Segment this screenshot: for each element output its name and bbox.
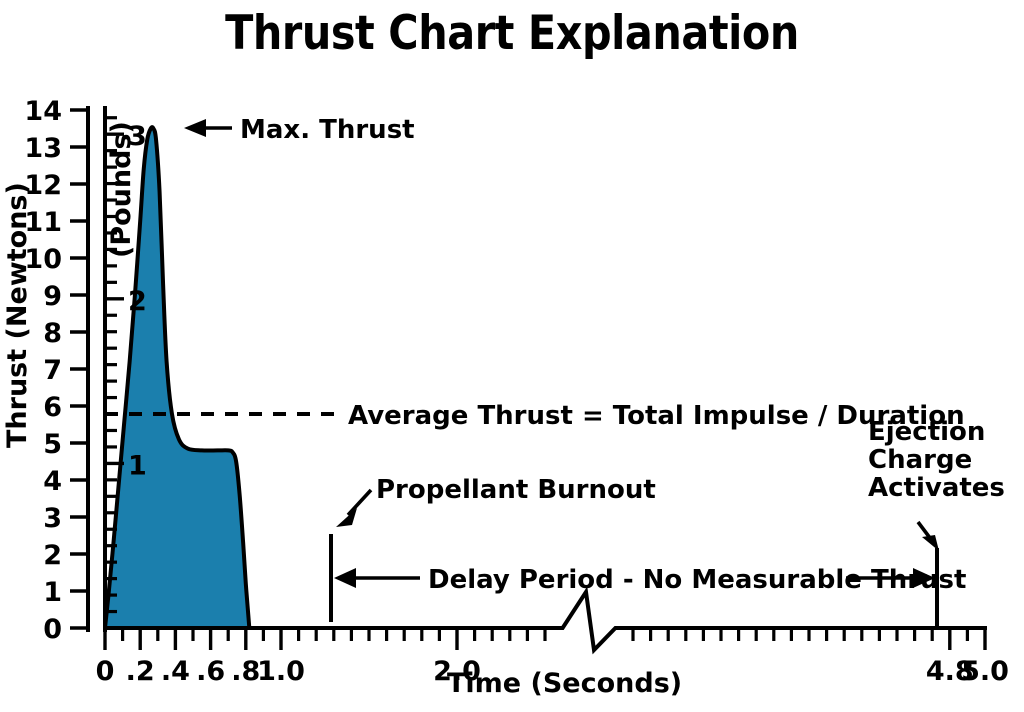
ejection-charge-annotation: Ejection Charge Activates bbox=[868, 417, 1005, 628]
y-tick-label-newtons: 14 bbox=[24, 96, 62, 127]
propellant-burnout-annotation: Propellant Burnout bbox=[331, 475, 656, 622]
y-tick-label-newtons: 2 bbox=[43, 540, 62, 571]
y-tick-label-newtons: 3 bbox=[43, 503, 62, 534]
y-tick-label-newtons: 8 bbox=[43, 318, 62, 349]
y-tick-label-newtons: 6 bbox=[43, 392, 62, 423]
max-thrust-annotation: Max. Thrust bbox=[184, 115, 415, 145]
burnout-arrow-shaft bbox=[348, 490, 371, 515]
x-tick-label: 5.0 bbox=[961, 656, 1009, 687]
x-tick-label: 0 bbox=[96, 656, 115, 687]
x-axis-title: Time (Seconds) bbox=[447, 668, 682, 699]
delay-period-label: Delay Period - No Measurable Thrust bbox=[428, 565, 966, 595]
y-tick-label-newtons: 1 bbox=[43, 577, 62, 608]
y-tick-label-newtons: 0 bbox=[43, 614, 62, 645]
x-tick-label: .4 bbox=[161, 656, 190, 687]
y-axis-newtons-ticks bbox=[70, 110, 88, 628]
y-tick-label-newtons: 5 bbox=[43, 429, 62, 460]
thrust-chart-figure: 01234567891011121314 123 0.2.4.6.81.02.0… bbox=[0, 0, 1024, 712]
y-tick-label-newtons: 13 bbox=[24, 133, 62, 164]
ejection-label-line-3: Activates bbox=[868, 473, 1005, 503]
delay-arrow-head-left bbox=[334, 568, 356, 588]
x-tick-label: .2 bbox=[126, 656, 155, 687]
max-thrust-label: Max. Thrust bbox=[240, 115, 415, 145]
ejection-label-line-2: Charge bbox=[868, 445, 972, 475]
burnout-arrow-head bbox=[336, 508, 357, 527]
y-tick-label-newtons: 4 bbox=[43, 466, 62, 497]
y-tick-label-newtons: 7 bbox=[43, 355, 62, 386]
y-tick-label-pounds: 1 bbox=[128, 450, 147, 481]
x-tick-label: .8 bbox=[231, 656, 260, 687]
ejection-arrow-head bbox=[922, 535, 939, 551]
y-tick-label-newtons: 9 bbox=[43, 281, 62, 312]
propellant-burnout-label: Propellant Burnout bbox=[376, 475, 656, 505]
x-tick-label: 1.0 bbox=[257, 656, 305, 687]
ejection-arrow-shaft bbox=[918, 522, 930, 538]
average-thrust-annotation: Average Thrust = Total Impulse / Duratio… bbox=[105, 401, 965, 431]
max-thrust-arrow-head bbox=[184, 119, 206, 137]
x-tick-label: .6 bbox=[196, 656, 225, 687]
x-axis-ticks bbox=[105, 628, 985, 650]
y-axis-newtons-title: Thrust (Newtons) bbox=[2, 182, 33, 448]
thrust-chart-page: Thrust Chart Explanation 012345678910111… bbox=[0, 0, 1024, 712]
y-tick-label-pounds: 2 bbox=[128, 286, 147, 317]
ejection-label-line-1: Ejection bbox=[868, 417, 985, 447]
y-axis-pounds-title: (Pounds) bbox=[106, 121, 137, 258]
delay-period-annotation: Delay Period - No Measurable Thrust bbox=[334, 565, 966, 595]
